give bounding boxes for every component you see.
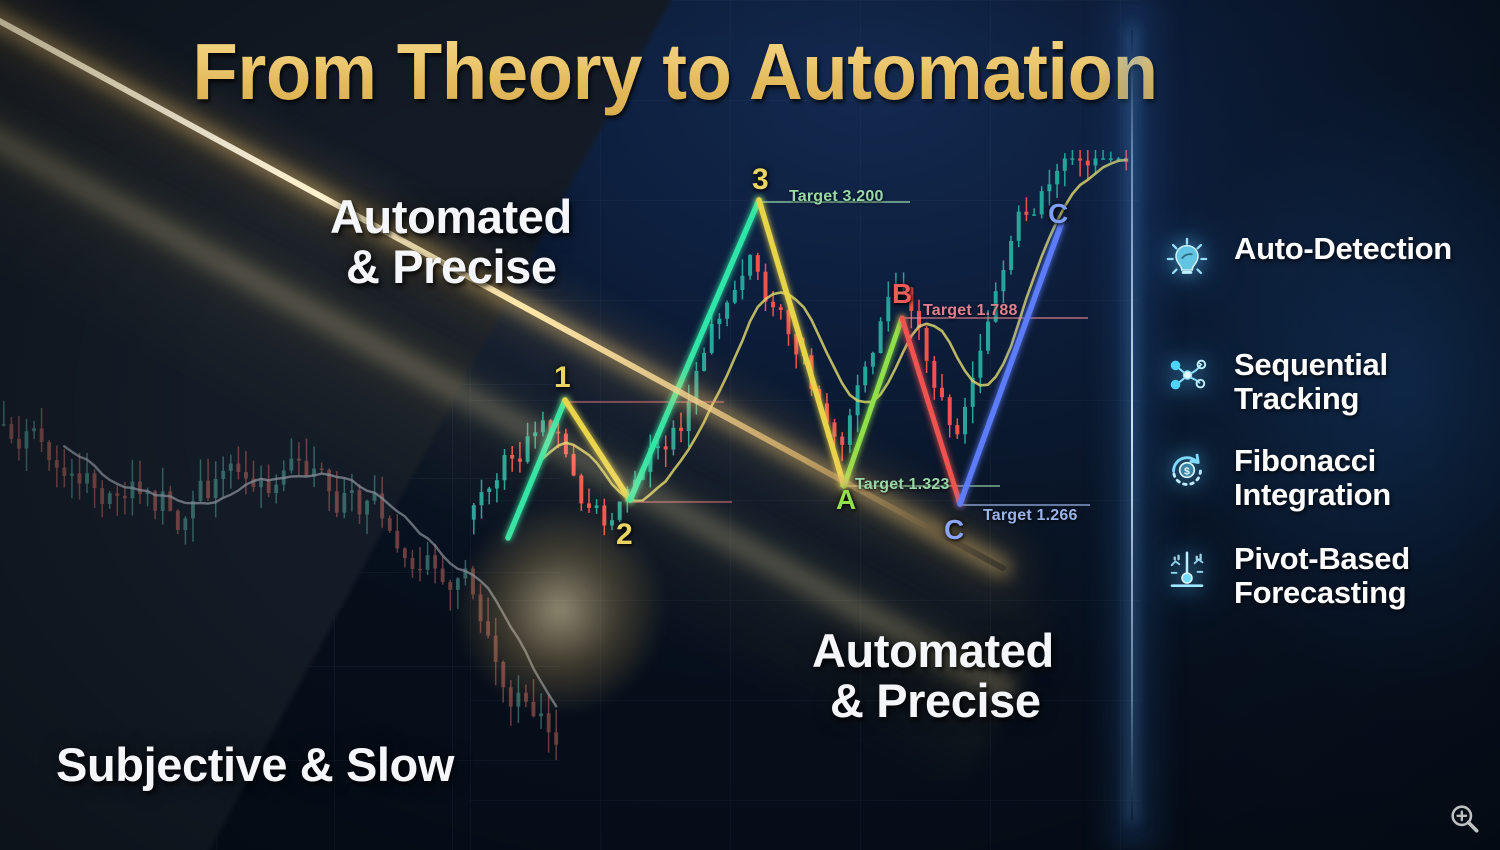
wave-label-b: B <box>892 278 912 310</box>
feature-label-line-1: Pivot-Based <box>1234 541 1410 576</box>
feature-label: Sequential Tracking <box>1234 344 1388 416</box>
feature-label-line-2: Integration <box>1234 477 1391 512</box>
gold-diagonal-hotspot <box>455 505 665 715</box>
fibonacci-dollar-refresh-icon: $ <box>1158 442 1216 500</box>
caption-line-1: Automated <box>812 626 1054 676</box>
caption-line-2: & Precise <box>330 242 572 292</box>
target-label-1266: Target 1.266 <box>983 507 1078 525</box>
caption-subjective-slow: Subjective & Slow <box>56 740 454 790</box>
wave-leg-up-a-b <box>844 318 902 486</box>
node-graph-icon <box>1158 346 1216 404</box>
target-label-3200: Target 3.200 <box>789 188 884 206</box>
feature-label: Fibonacci Integration <box>1234 440 1391 512</box>
feature-list: Auto-Detection <box>1158 228 1498 645</box>
wave-label-1: 1 <box>554 361 571 395</box>
feature-label-line-1: Fibonacci <box>1234 443 1376 478</box>
svg-text:$: $ <box>1184 466 1190 478</box>
caption-line-1: Automated <box>330 192 572 242</box>
feature-label: Auto-Detection <box>1234 228 1452 266</box>
feature-label-line-1: Sequential <box>1234 347 1388 382</box>
feature-label: Pivot-Based Forecasting <box>1234 538 1410 610</box>
panel-divider-line <box>1131 30 1133 820</box>
caption-automated-precise-top: Automated & Precise <box>330 192 572 292</box>
wave-label-c-high: C <box>1048 198 1068 230</box>
wave-label-a: A <box>836 484 856 516</box>
feature-item-sequential-tracking[interactable]: Sequential Tracking <box>1158 344 1498 416</box>
target-label-1788: Target 1.788 <box>923 302 1018 320</box>
lightbulb-detection-icon <box>1158 230 1216 288</box>
feature-item-auto-detection[interactable]: Auto-Detection <box>1158 228 1498 288</box>
target-label-1323: Target 1.323 <box>855 476 950 494</box>
feature-label-line-2: Forecasting <box>1234 575 1406 610</box>
caption-automated-precise-bottom: Automated & Precise <box>812 626 1054 726</box>
feature-item-pivot-forecasting[interactable]: Pivot-Based Forecasting <box>1158 538 1498 610</box>
feature-label-line-2: Tracking <box>1234 381 1359 416</box>
zoom-in-icon[interactable] <box>1448 802 1482 836</box>
pivot-balance-icon <box>1158 540 1216 598</box>
caption-line-2: & Precise <box>812 676 1054 726</box>
wave-label-2: 2 <box>616 518 633 552</box>
wave-label-c-low: C <box>944 514 964 546</box>
infographic-canvas: 1 2 3 A B C C Target 3.200 Target 1.788 … <box>0 0 1500 850</box>
wave-label-3: 3 <box>752 163 769 197</box>
feature-item-fibonacci-integration[interactable]: $ Fibonacci Integration <box>1158 440 1498 512</box>
